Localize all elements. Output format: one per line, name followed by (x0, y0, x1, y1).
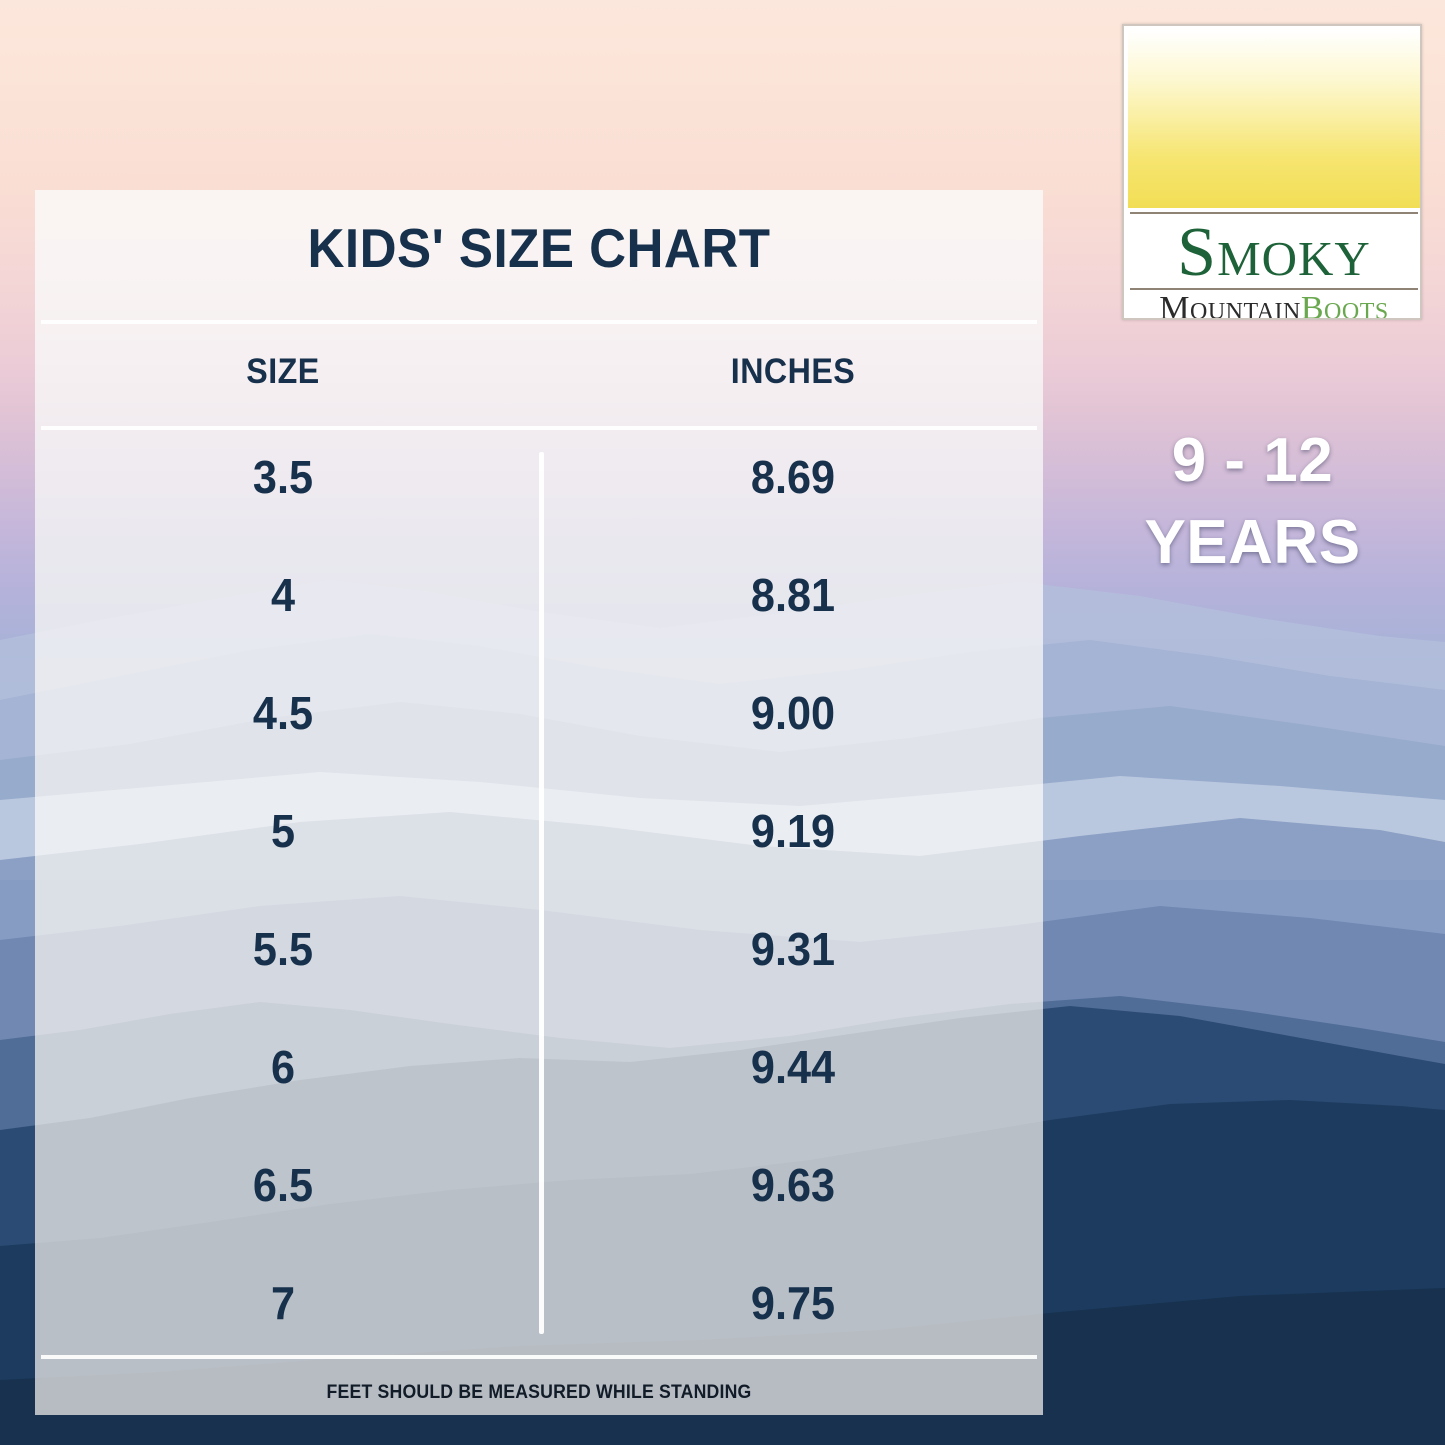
table-row: 5.5 9.31 (35, 914, 1043, 1032)
mountain-sunrise-icon (1128, 30, 1420, 208)
logo-wordmark-primary: Smoky (1124, 218, 1422, 288)
cell-inches: 9.75 (699, 1276, 887, 1330)
cell-inches: 9.44 (699, 1040, 887, 1094)
logo-wordmark-mountain: Mountain (1159, 290, 1301, 320)
logo-wordmark-secondary: MountainBoots (1124, 292, 1422, 320)
cell-size: 5 (189, 804, 377, 858)
age-range-value: 9 - 12 (1080, 420, 1425, 502)
cell-inches: 9.31 (699, 922, 887, 976)
page-title: KIDS' SIZE CHART (70, 216, 1007, 280)
cell-inches: 9.63 (699, 1158, 887, 1212)
cell-inches: 8.81 (699, 568, 887, 622)
cell-inches: 9.00 (699, 686, 887, 740)
age-range-badge: 9 - 12 YEARS (1080, 420, 1425, 585)
cell-size: 6.5 (189, 1158, 377, 1212)
cell-inches: 8.69 (699, 450, 887, 504)
table-row: 7 9.75 (35, 1268, 1043, 1386)
cell-size: 7 (189, 1276, 377, 1330)
table-row: 6.5 9.63 (35, 1150, 1043, 1268)
logo-wordmark-boots: Boots (1301, 290, 1389, 320)
logo-sky-gradient (1128, 30, 1420, 208)
divider-under-headers (41, 426, 1037, 430)
table-row: 4 8.81 (35, 560, 1043, 678)
size-table-body: 3.5 8.69 4 8.81 4.5 9.00 5 9.19 5.5 9.31… (35, 442, 1043, 1386)
table-row: 4.5 9.00 (35, 678, 1043, 796)
size-chart-graphic: KIDS' SIZE CHART SIZE INCHES 3.5 8.69 4 … (0, 0, 1445, 1445)
brand-logo: Smoky MountainBoots (1122, 24, 1422, 320)
table-row: 5 9.19 (35, 796, 1043, 914)
cell-size: 5.5 (189, 922, 377, 976)
table-row: 3.5 8.69 (35, 442, 1043, 560)
column-header-size: SIZE (191, 352, 375, 392)
divider-under-title (41, 320, 1037, 324)
column-header-inches: INCHES (701, 352, 885, 392)
cell-inches: 9.19 (699, 804, 887, 858)
cell-size: 3.5 (189, 450, 377, 504)
size-chart-panel: KIDS' SIZE CHART SIZE INCHES 3.5 8.69 4 … (35, 190, 1043, 1415)
age-range-unit: YEARS (1080, 502, 1425, 584)
cell-size: 4 (189, 568, 377, 622)
cell-size: 4.5 (189, 686, 377, 740)
cell-size: 6 (189, 1040, 377, 1094)
measurement-footnote: FEET SHOULD BE MEASURED WHILE STANDING (70, 1382, 1007, 1404)
table-row: 6 9.44 (35, 1032, 1043, 1150)
